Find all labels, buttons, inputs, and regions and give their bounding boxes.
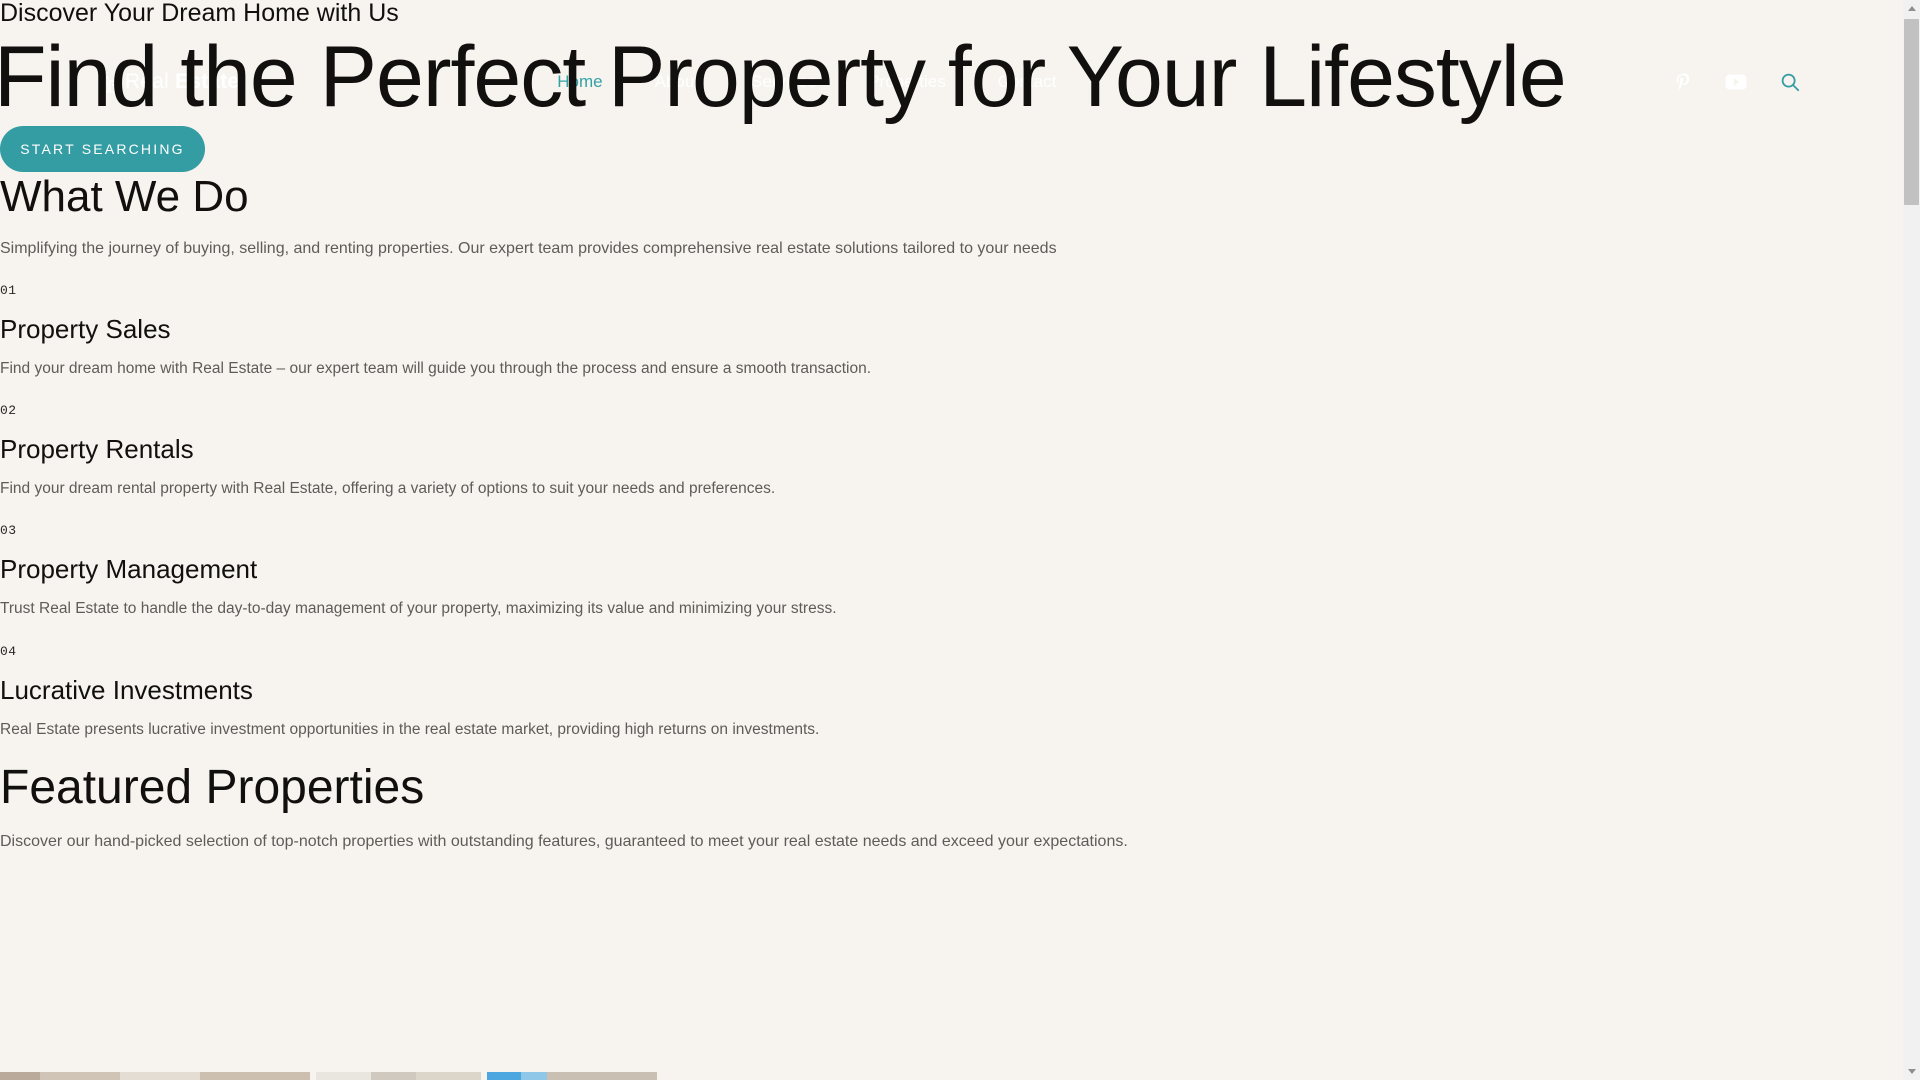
property-thumb-2[interactable] [316,1072,481,1080]
service-item-04: 04 Lucrative Investments Real Estate pre… [0,644,1400,739]
service-item-01: 01 Property Sales Find your dream home w… [0,283,1400,378]
property-thumb-1[interactable] [0,1072,310,1080]
featured-properties-gallery [0,1072,657,1080]
search-icon[interactable] [1778,70,1802,94]
pinterest-icon[interactable] [1672,71,1694,93]
service-number: 01 [0,283,1400,298]
nav-icon-group [1672,70,1802,94]
service-description: Find your dream rental property with Rea… [0,480,1400,498]
scroll-thumb[interactable] [1904,19,1919,205]
what-we-do-subtitle: Simplifying the journey of buying, selli… [0,239,1057,258]
service-title[interactable]: Property Sales [0,315,1400,343]
service-number: 03 [0,523,1400,538]
service-title[interactable]: Lucrative Investments [0,676,1400,704]
youtube-icon[interactable] [1725,71,1747,93]
service-description: Real Estate presents lucrative investmen… [0,721,1400,739]
service-title[interactable]: Property Rentals [0,435,1400,463]
service-description: Trust Real Estate to handle the day-to-d… [0,600,1400,618]
service-description: Find your dream home with Real Estate – … [0,360,1400,378]
featured-properties-subtitle: Discover our hand-picked selection of to… [0,832,1128,851]
hero-eyebrow: Discover Your Dream Home with Us [0,0,399,27]
scroll-down-arrow[interactable] [1903,1063,1920,1080]
vertical-scrollbar[interactable] [1903,0,1920,1080]
service-number: 02 [0,403,1400,418]
service-number: 04 [0,644,1400,659]
service-item-02: 02 Property Rentals Find your dream rent… [0,403,1400,498]
scroll-up-arrow[interactable] [1903,0,1920,17]
property-thumb-3[interactable] [487,1072,657,1080]
hero-title: Find the Perfect Property for Your Lifes… [0,34,1566,120]
service-item-03: 03 Property Management Trust Real Estate… [0,523,1400,618]
page-root: RealEstate Home About Services Propertie… [0,0,1920,1080]
start-searching-button[interactable]: START SEARCHING [0,126,205,172]
what-we-do-title: What We Do [0,174,249,220]
service-title[interactable]: Property Management [0,555,1400,583]
featured-properties-title: Featured Properties [0,762,424,814]
